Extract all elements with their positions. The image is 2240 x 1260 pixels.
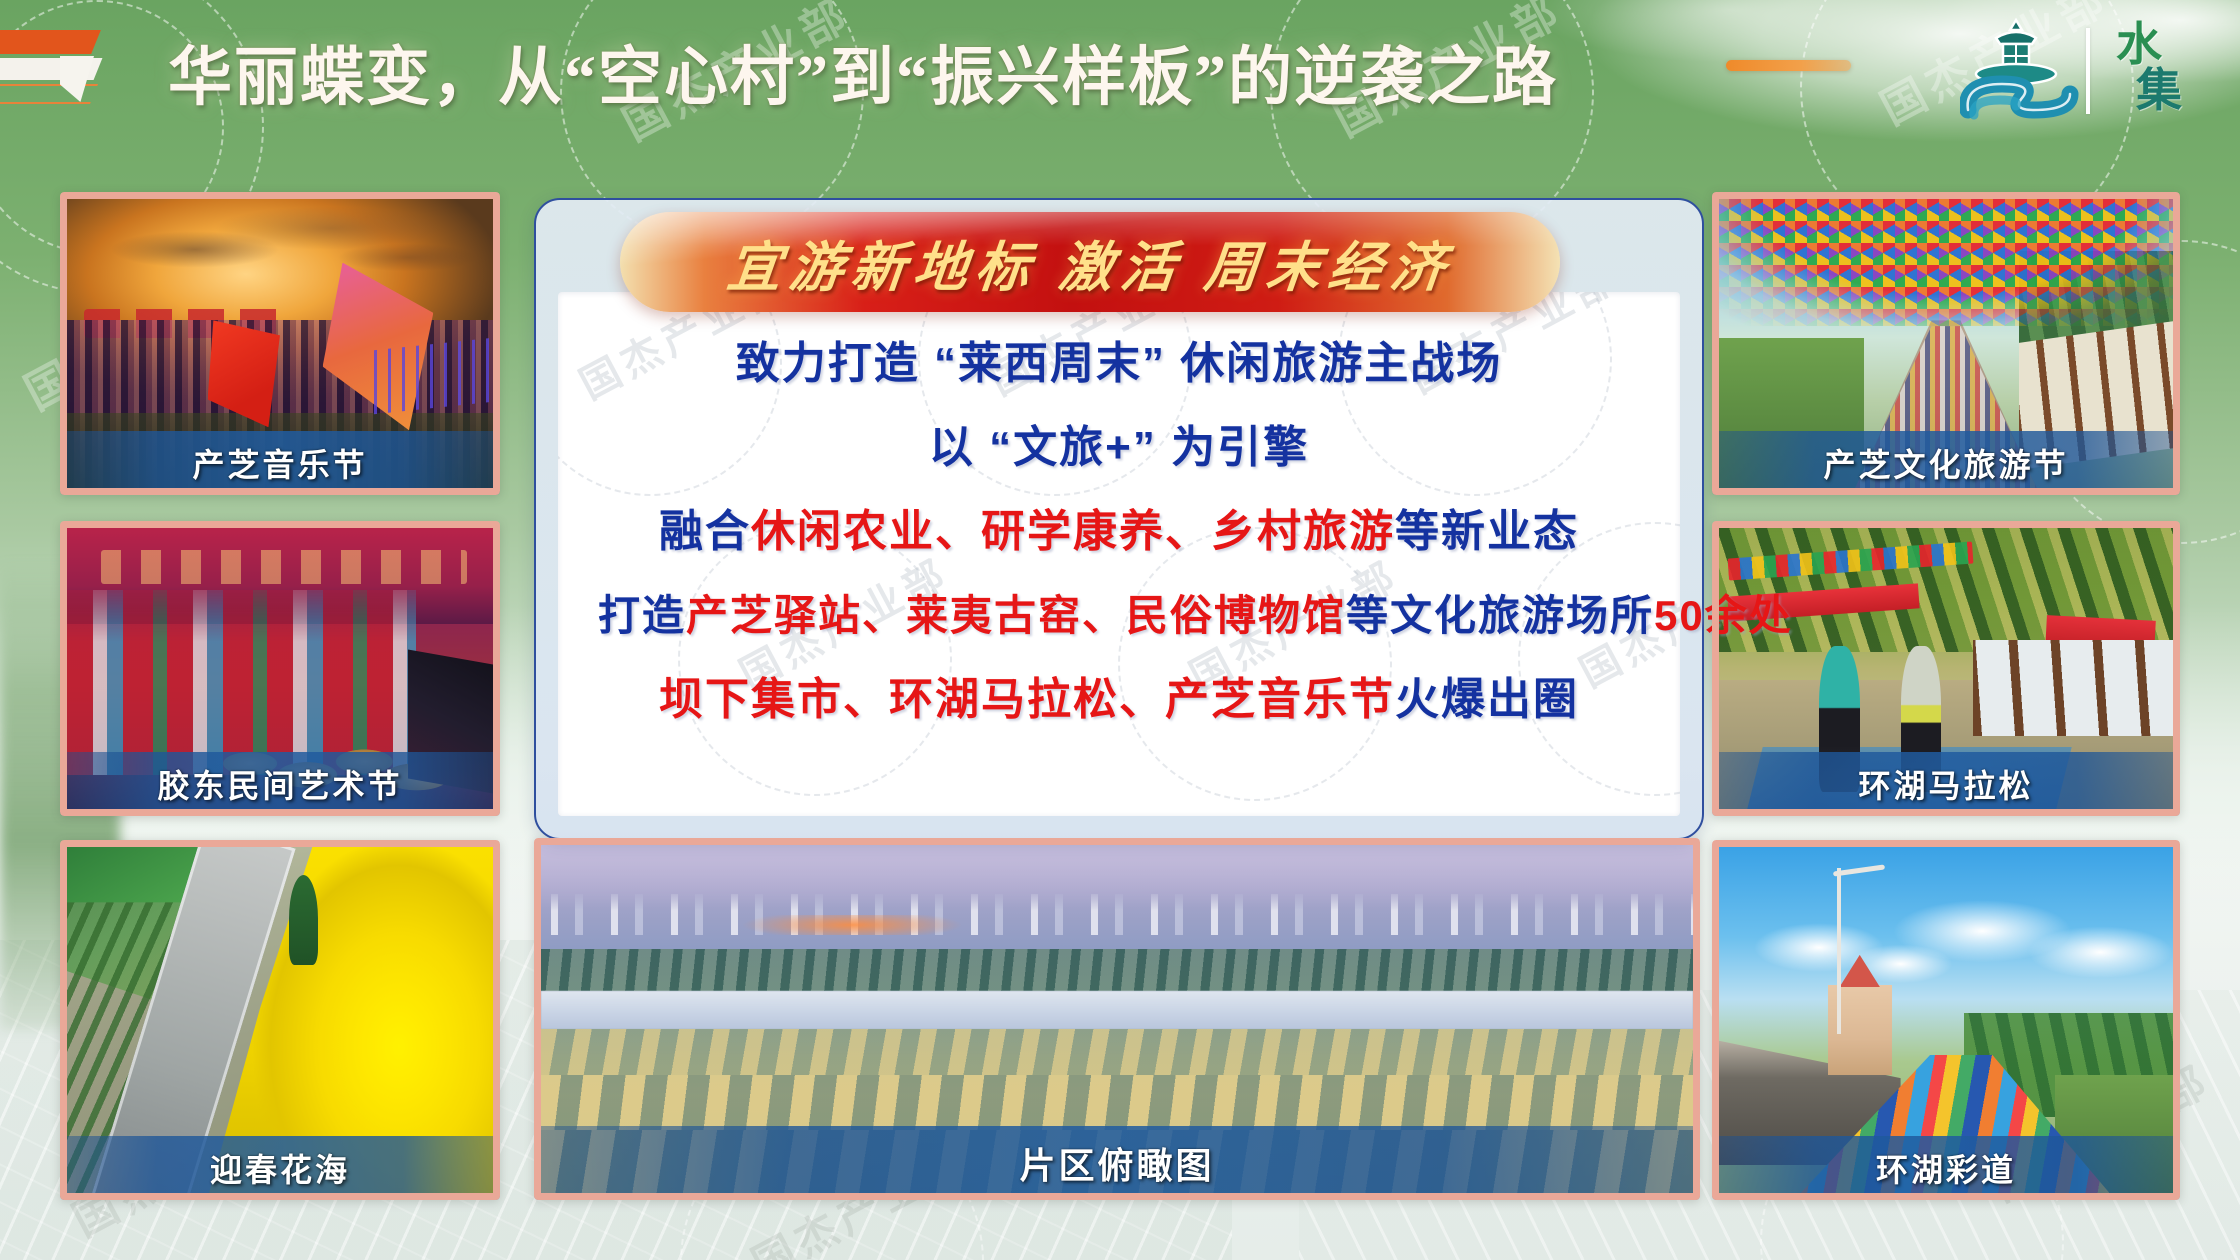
photo-caption-bar: 胶东民间艺术节 [60,752,500,816]
photo-caption: 产芝音乐节 [192,440,367,486]
photo-caption-bar: 产芝音乐节 [60,431,500,495]
photo-card-colorful-lake-path[interactable]: 环湖彩道 [1712,840,2180,1200]
logo-word-char-2: 集 [2136,68,2226,114]
content-line-segment: 以 “文旅+” 为引擎 [929,423,1309,472]
content-line-segment: 休闲农业、研学康养、乡村旅游 [751,507,1395,556]
photo-caption-bar: 片区俯瞰图 [534,1126,1700,1200]
logo-divider [2086,28,2090,114]
ribbon-title: 宜游新地标 激活 周末经济 [723,223,1456,302]
content-text-block: 致力打造 “莱西周末” 休闲旅游主战场 以 “文旅+” 为引擎 融合休闲农业、研… [598,322,1640,742]
header-bar: 华丽蝶变，从“空心村”到“振兴样板”的逆袭之路 [0,0,2240,132]
photo-caption: 迎春花海 [210,1145,350,1191]
content-line-4: 打造产芝驿站、莱夷古窑、民俗博物馆等文化旅游场所50余处 [598,574,1640,658]
photo-caption: 片区俯瞰图 [1019,1137,1214,1189]
photo-caption: 产芝文化旅游节 [1823,440,2068,486]
photo-caption-bar: 环湖彩道 [1712,1136,2180,1200]
photo-caption-bar: 环湖马拉松 [1712,752,2180,816]
photo-card-district-aerial[interactable]: 片区俯瞰图 [534,838,1700,1200]
photo-card-spring-flowers[interactable]: 迎春花海 [60,840,500,1200]
photo-caption-bar: 产芝文化旅游节 [1712,431,2180,495]
photo-card-culture-tourism-festival[interactable]: 产芝文化旅游节 [1712,192,2180,495]
photo-card-lake-marathon[interactable]: 环湖马拉松 [1712,521,2180,816]
brand-logo: 水 集 [1960,14,2228,130]
photo-caption: 环湖马拉松 [1858,761,2033,807]
photo-card-music-festival[interactable]: 产芝音乐节 [60,192,500,495]
content-line-segment: 坝下集市、环湖马拉松、产芝音乐节 [659,675,1395,724]
content-panel-inner: 国杰产业部 国杰产业部 国杰产业部 国杰产业部 国杰产业部 国杰产业部 致力打造… [558,292,1680,816]
photo-caption-bar: 迎春花海 [60,1136,500,1200]
logo-wordmark: 水 集 [2110,22,2226,122]
content-line-segment: 等新业态 [1395,507,1579,556]
content-line-5: 坝下集市、环湖马拉松、产芝音乐节火爆出圈 [598,658,1640,742]
logo-word-char-1: 水 [2116,22,2226,68]
content-line-3: 融合休闲农业、研学康养、乡村旅游等新业态 [598,490,1640,574]
photo-caption: 环湖彩道 [1876,1145,2016,1191]
slide-root: 国杰产业部 国杰产业部 国杰产业部 国杰产业部 国杰产业部 国杰产业部 国杰产业… [0,0,2240,1260]
photo-caption: 胶东民间艺术节 [157,761,402,807]
section-ribbon-banner: 宜游新地标 激活 周末经济 [620,212,1560,312]
page-title: 华丽蝶变，从“空心村”到“振兴样板”的逆袭之路 [168,26,1558,118]
content-line-segment: 产芝驿站、莱夷古窑、民俗博物馆 [686,592,1346,639]
header-decoration-stripes [0,30,114,102]
content-line-segment: 致力打造 “莱西周末” 休闲旅游主战场 [736,339,1502,388]
content-line-segment: 融合 [659,507,751,556]
content-line-1: 致力打造 “莱西周末” 休闲旅游主战场 [598,322,1640,406]
header-dash-decoration [1726,60,1851,71]
photo-card-folk-art-festival[interactable]: 胶东民间艺术节 [60,521,500,816]
content-line-segment: 50余处 [1654,592,1793,639]
content-line-segment: 火爆出圈 [1395,675,1579,724]
content-line-2: 以 “文旅+” 为引擎 [598,406,1640,490]
content-line-segment: 打造 [598,592,686,639]
content-line-segment: 等文化旅游场所 [1346,592,1654,639]
